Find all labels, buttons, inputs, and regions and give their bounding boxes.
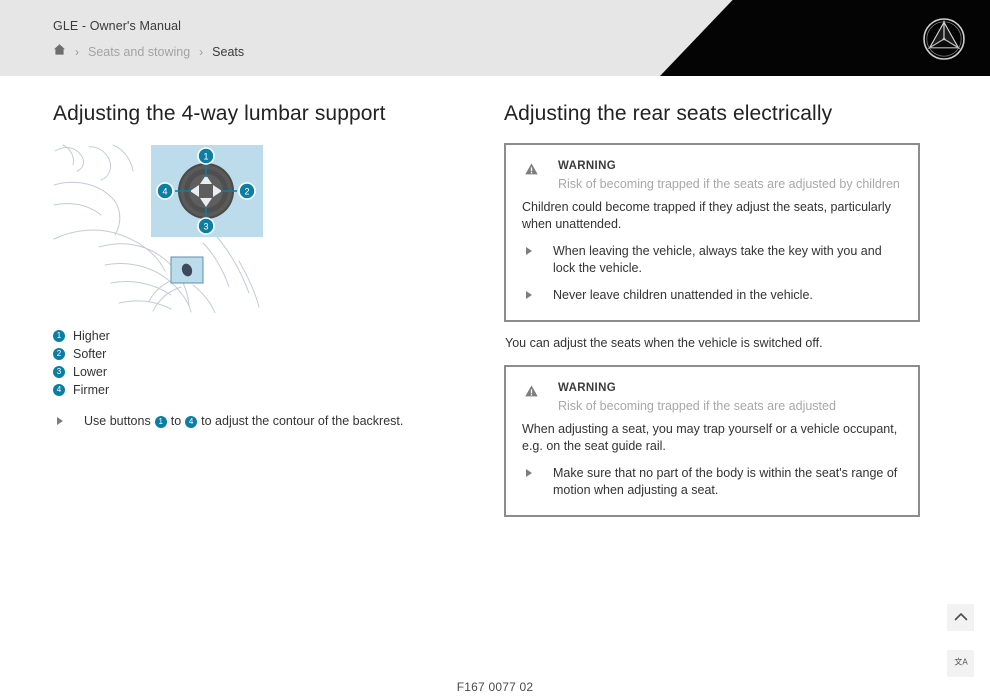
language-icon: 文A <box>953 654 969 673</box>
svg-text:3: 3 <box>203 222 208 232</box>
warning-title: WARNING <box>558 381 836 396</box>
left-column: Adjusting the 4-way lumbar support <box>53 100 473 430</box>
action-instruction-text: Use buttons 1 to 4 to adjust the contour… <box>84 413 403 430</box>
legend-badge-2: 2 <box>53 348 65 360</box>
svg-text:2: 2 <box>244 187 249 197</box>
legend-item-2: 2 Softer <box>53 345 473 363</box>
warning-measures-list: When leaving the vehicle, always take th… <box>522 243 902 304</box>
language-toggle-button[interactable]: 文A <box>947 650 974 677</box>
breadcrumb-separator-2: › <box>199 46 203 58</box>
left-section-title: Adjusting the 4-way lumbar support <box>53 100 473 128</box>
action-suffix: to adjust the contour of the backrest. <box>201 413 403 430</box>
warning-measure-item: Never leave children unattended in the v… <box>522 287 902 304</box>
svg-text:4: 4 <box>162 187 167 197</box>
legend-item-1: 1 Higher <box>53 327 473 345</box>
legend-label-2: Softer <box>73 347 106 361</box>
warning-header-text: WARNING Risk of becoming trapped if the … <box>558 381 836 415</box>
warning-body: When adjusting a seat, you may trap your… <box>522 421 902 455</box>
legend-label-3: Lower <box>73 365 107 379</box>
svg-text:文A: 文A <box>954 657 968 667</box>
warning-subtitle: Risk of becoming trapped if the seats ar… <box>558 398 836 415</box>
arrow-bullet-icon <box>526 291 532 299</box>
warning-header: WARNING Risk of becoming trapped if the … <box>522 381 902 415</box>
action-badge-to: 4 <box>185 416 197 428</box>
legend-item-3: 3 Lower <box>53 363 473 381</box>
warning-measure-text: Never leave children unattended in the v… <box>553 287 813 304</box>
right-section-title: Adjusting the rear seats electrically <box>504 100 920 128</box>
legend-badge-1: 1 <box>53 330 65 342</box>
legend-item-4: 4 Firmer <box>53 381 473 399</box>
manual-page: GLE - Owner's Manual › Seats and stowing… <box>0 0 990 700</box>
mercedes-benz-star-icon <box>922 17 966 61</box>
warning-title: WARNING <box>558 159 900 174</box>
legend-badge-3: 3 <box>53 366 65 378</box>
action-middle: to <box>171 413 181 430</box>
home-icon[interactable] <box>53 43 66 61</box>
action-badge-from: 1 <box>155 416 167 428</box>
scroll-to-top-button[interactable] <box>947 604 974 631</box>
warning-measure-text: When leaving the vehicle, always take th… <box>553 243 902 277</box>
breadcrumb-item-seats-and-stowing[interactable]: Seats and stowing <box>88 45 190 59</box>
arrow-bullet-icon <box>526 469 532 477</box>
manual-title: GLE - Owner's Manual <box>53 18 244 34</box>
right-column: Adjusting the rear seats electrically WA… <box>504 100 920 517</box>
legend-label-4: Firmer <box>73 383 109 397</box>
arrow-bullet-icon <box>57 417 63 425</box>
warning-header-text: WARNING Risk of becoming trapped if the … <box>558 159 900 193</box>
warning-triangle-icon <box>525 162 538 180</box>
warning-triangle-icon <box>525 384 538 402</box>
warning-body: Children could become trapped if they ad… <box>522 199 902 233</box>
warning-box-children: WARNING Risk of becoming trapped if the … <box>504 143 920 322</box>
legend-badge-4: 4 <box>53 384 65 396</box>
warning-header: WARNING Risk of becoming trapped if the … <box>522 159 902 193</box>
arrow-bullet-icon <box>526 247 532 255</box>
header-text-block: GLE - Owner's Manual › Seats and stowing… <box>53 18 244 61</box>
warning-box-seat-adjust: WARNING Risk of becoming trapped if the … <box>504 365 920 517</box>
between-paragraph: You can adjust the seats when the vehicl… <box>505 335 920 352</box>
legend-label-1: Higher <box>73 329 110 343</box>
action-instruction-row: Use buttons 1 to 4 to adjust the contour… <box>53 413 473 430</box>
breadcrumb-separator-1: › <box>75 46 79 58</box>
chevron-up-icon <box>954 609 968 627</box>
lumbar-support-control-illustration: 1 2 3 4 <box>53 143 263 313</box>
warning-subtitle: Risk of becoming trapped if the seats ar… <box>558 176 900 193</box>
svg-text:1: 1 <box>203 152 208 162</box>
warning-measure-text: Make sure that no part of the body is wi… <box>553 465 902 499</box>
breadcrumb: › Seats and stowing › Seats <box>53 43 244 61</box>
breadcrumb-item-seats[interactable]: Seats <box>212 45 244 59</box>
page-header: GLE - Owner's Manual › Seats and stowing… <box>0 0 990 76</box>
warning-measure-item: Make sure that no part of the body is wi… <box>522 465 902 499</box>
action-prefix: Use buttons <box>84 413 151 430</box>
legend-list: 1 Higher 2 Softer 3 Lower 4 Firmer <box>53 327 473 399</box>
figure-code: F167 0077 02 <box>0 680 990 694</box>
warning-measure-item: When leaving the vehicle, always take th… <box>522 243 902 277</box>
warning-measures-list: Make sure that no part of the body is wi… <box>522 465 902 499</box>
